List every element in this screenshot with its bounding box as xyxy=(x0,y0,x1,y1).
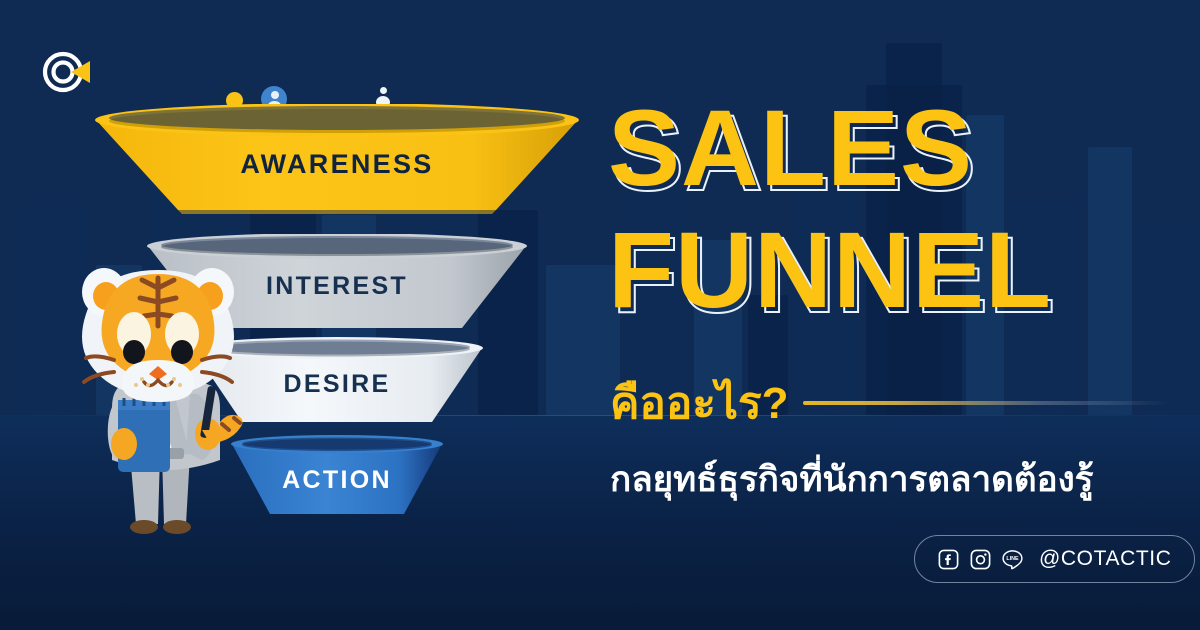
avatar-tiny-blue xyxy=(372,84,394,106)
gold-divider-line xyxy=(803,401,1170,405)
headline-panel: SALES SALES FUNNEL FUNNEL คืออะไร? กลยุท… xyxy=(600,0,1200,630)
funnel-stage-label: INTEREST xyxy=(266,272,408,301)
poster-canvas: AWARENESS INTEREST xyxy=(0,0,1200,630)
funnel-stage-awareness[interactable]: AWARENESS xyxy=(92,104,582,224)
svg-text:LINE: LINE xyxy=(1006,556,1019,562)
subheading-row: คืออะไร? xyxy=(610,368,1170,438)
funnel-stage-label: DESIRE xyxy=(284,370,391,399)
headline-funnel-text: FUNNEL xyxy=(608,209,1052,330)
cotactic-logo[interactable] xyxy=(38,48,94,96)
instagram-icon[interactable] xyxy=(969,548,992,571)
funnel-stage-label: AWARENESS xyxy=(240,149,433,180)
tagline-text: กลยุทธ์ธุรกิจที่นักการตลาดต้องรู้ xyxy=(610,452,1093,507)
tiger-businessman-mascot xyxy=(58,248,258,544)
funnel-stage-label: ACTION xyxy=(282,466,392,495)
headline-funnel: FUNNEL FUNNEL xyxy=(608,218,1052,322)
social-handle-badge[interactable]: LINE @COTACTIC xyxy=(914,535,1195,583)
target-arrow-logo-icon xyxy=(45,54,90,90)
facebook-icon[interactable] xyxy=(937,548,960,571)
line-icon[interactable]: LINE xyxy=(1001,548,1024,571)
headline-sales: SALES SALES xyxy=(608,96,973,200)
subheading-question: คืออะไร? xyxy=(610,368,789,438)
social-handle-text: @COTACTIC xyxy=(1039,547,1172,571)
headline-sales-text: SALES xyxy=(608,87,973,208)
